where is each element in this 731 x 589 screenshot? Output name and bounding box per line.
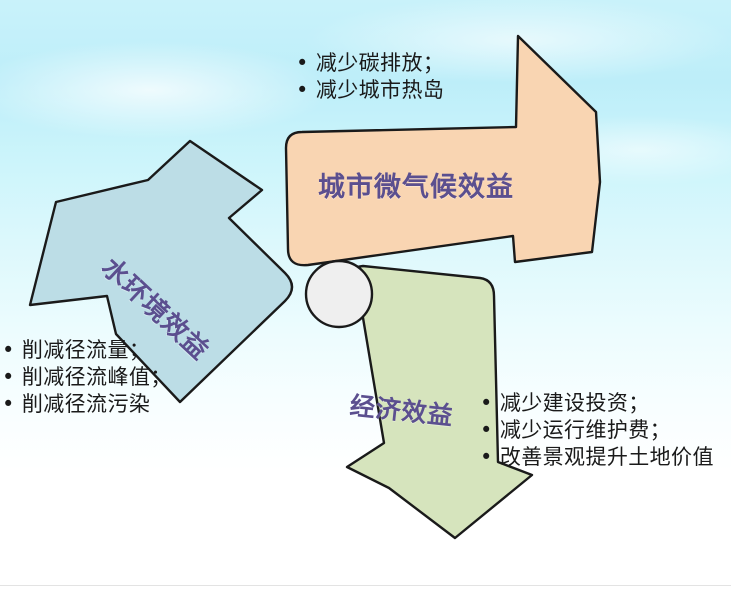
bullets-blue: • 削减径流量； • 削减径流峰值； • 削减径流污染 — [2, 337, 172, 418]
label-urban-microclimate: 城市微气候效益 — [318, 165, 514, 204]
bullets-orange: • 减少碳排放； • 减少城市热岛 — [296, 50, 444, 104]
bottom-divider — [0, 585, 731, 586]
bullet-item: • 改善景观提升土地价值 — [480, 444, 714, 471]
bullets-green: • 减少建设投资； • 减少运行维护费； • 改善景观提升土地价值 — [480, 390, 714, 471]
bullet-item: • 削减径流峰值； — [2, 364, 172, 391]
bullet-item: • 削减径流量； — [2, 337, 172, 364]
diagram-canvas: 城市微气候效益 水环境效益 经济效益 • 减少碳排放； • 减少城市热岛 • 削… — [0, 0, 731, 589]
bullet-item: • 减少碳排放； — [296, 50, 444, 77]
bullet-item: • 削减径流污染 — [2, 391, 172, 418]
bullet-item: • 减少城市热岛 — [296, 77, 444, 104]
bullet-item: • 减少建设投资； — [480, 390, 714, 417]
center-hub-circle — [306, 261, 372, 327]
bullet-item: • 减少运行维护费； — [480, 417, 714, 444]
